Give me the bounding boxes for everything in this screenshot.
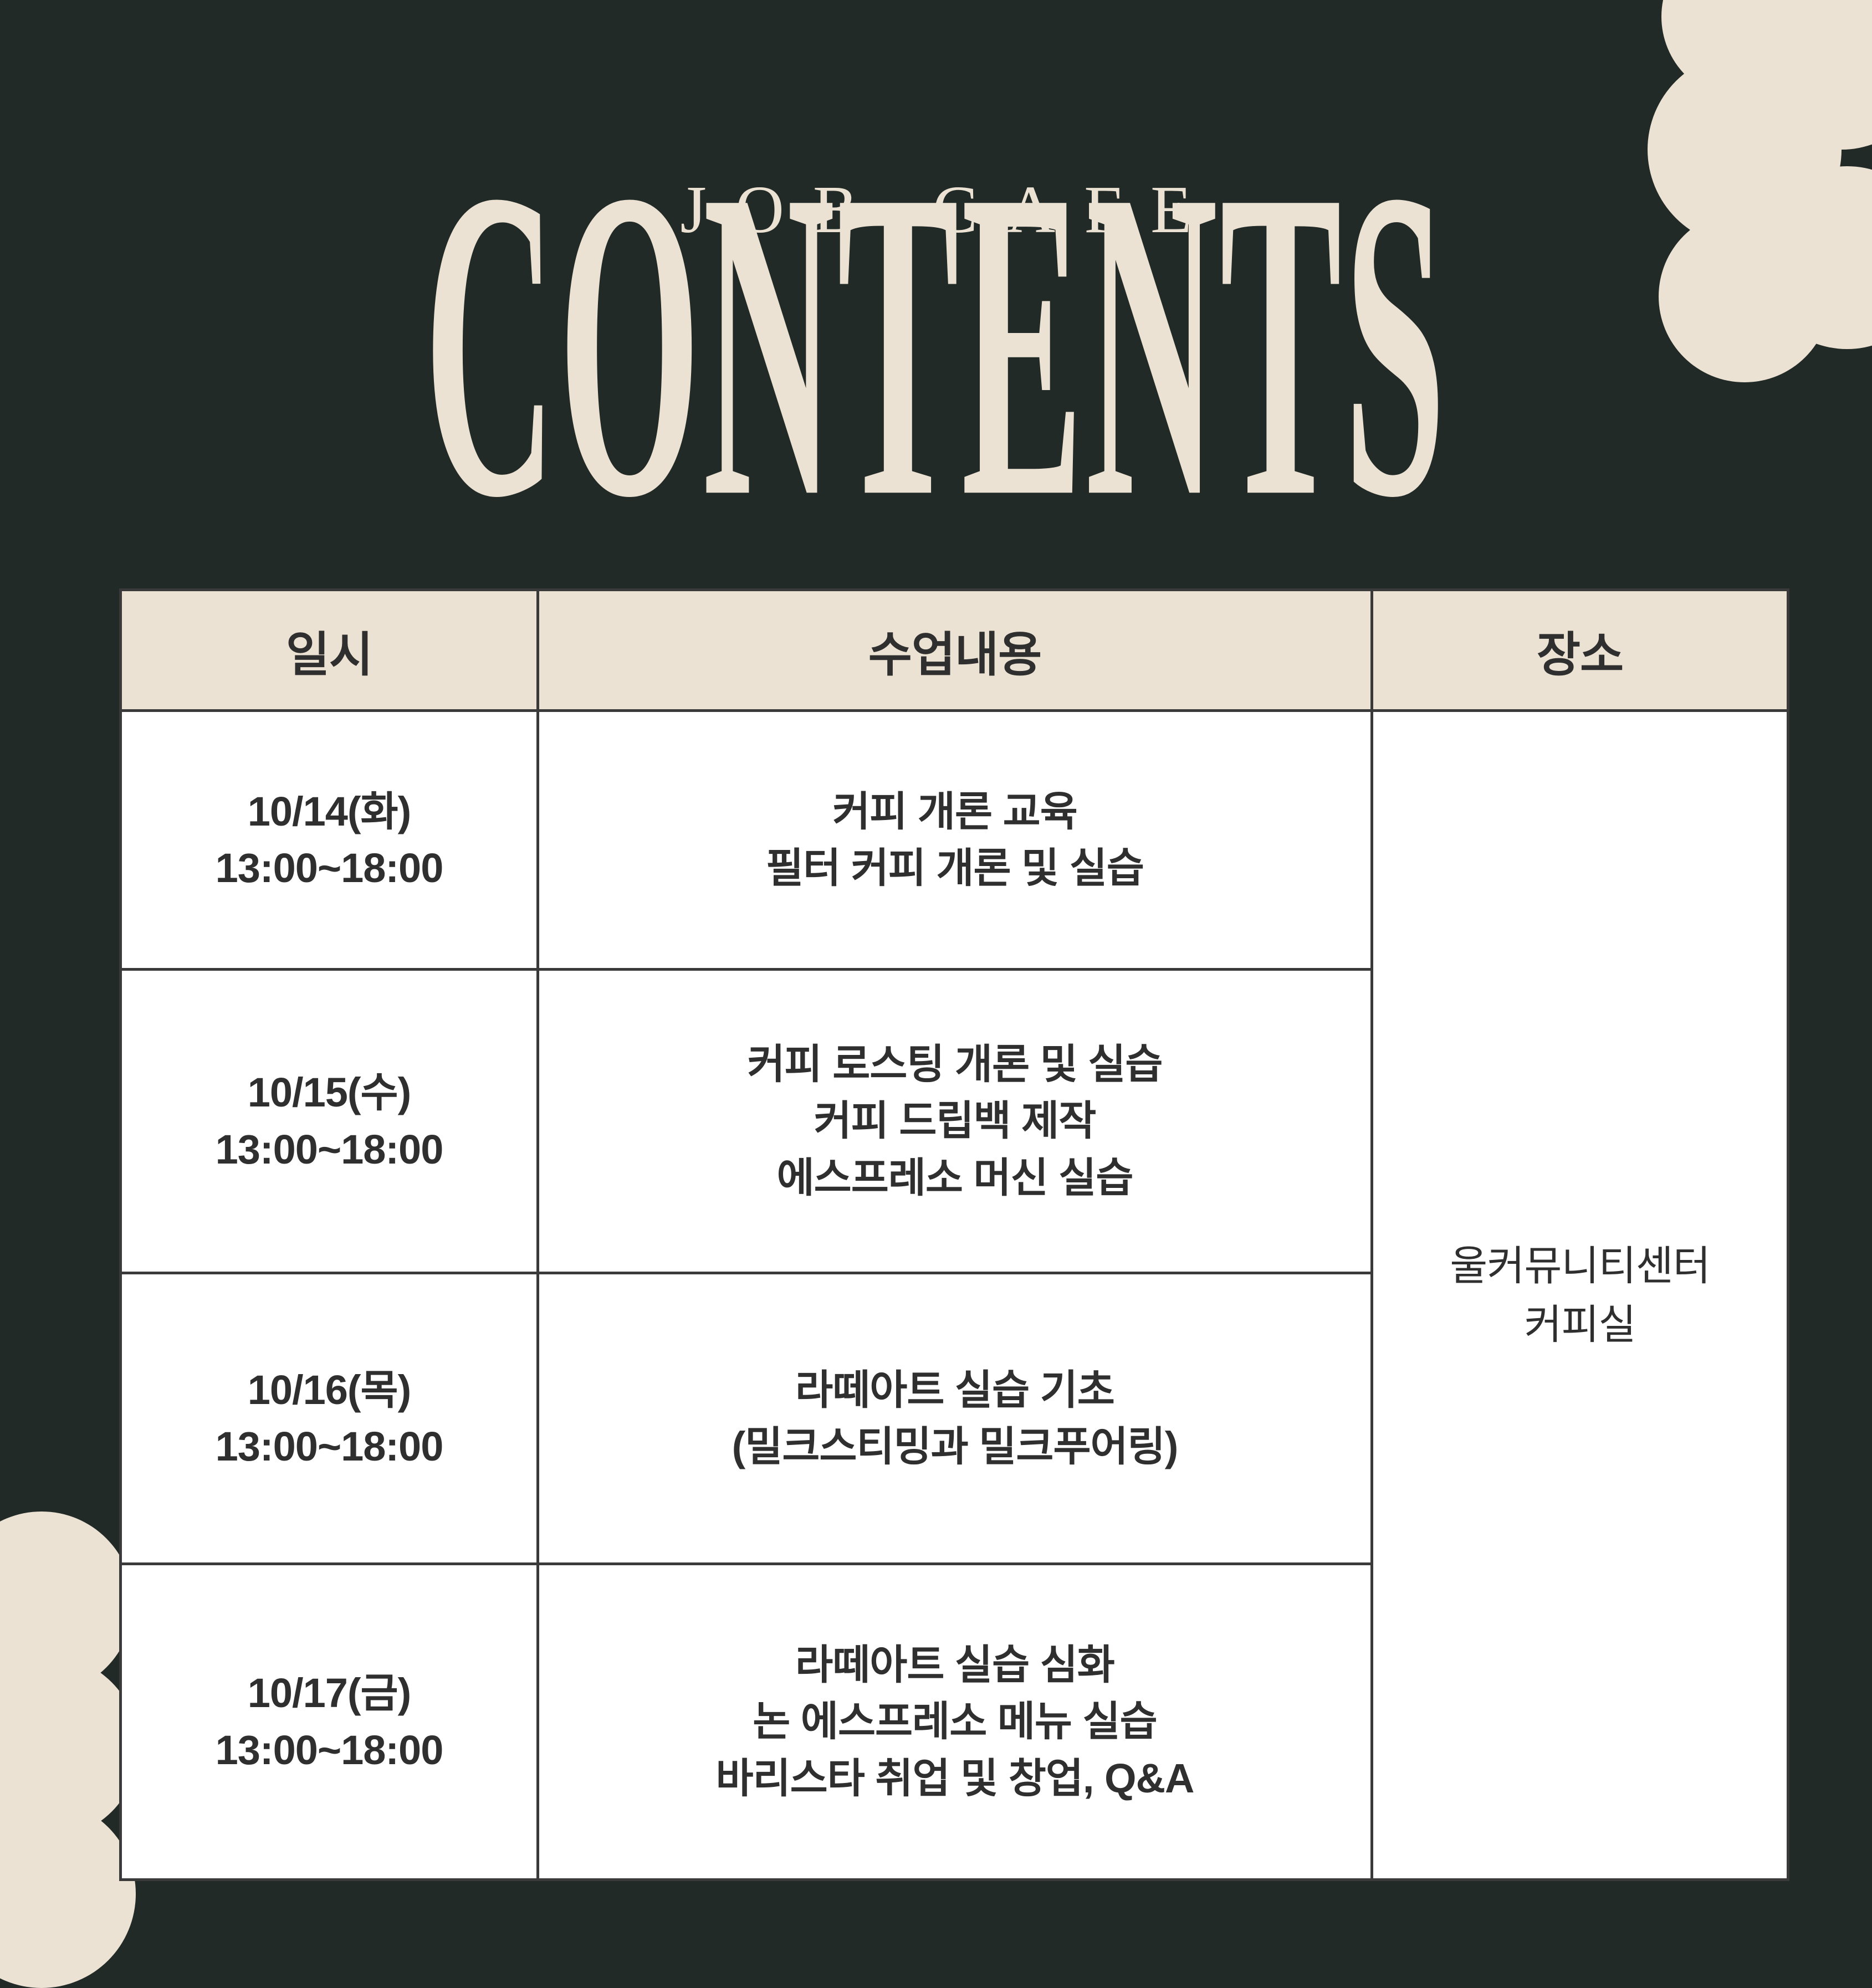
column-header-body: 수업내용 [538, 590, 1372, 711]
cell-lesson: 커피 개론 교육 필터 커피 개론 및 실습 [538, 711, 1372, 970]
page-title: CONTENTS [424, 124, 1448, 567]
lesson-line: 커피 로스팅 개론 및 실습 [539, 1036, 1370, 1093]
date-day: 10/17(금) [122, 1665, 536, 1721]
cell-lesson: 라떼아트 실습 심화 논 에스프레소 메뉴 실습 바리스타 취업 및 창업, Q… [538, 1564, 1372, 1880]
date-day: 10/16(목) [122, 1362, 536, 1418]
cell-lesson: 라떼아트 실습 기초 (밀크스티밍과 밀크푸어링) [538, 1273, 1372, 1564]
cell-date: 10/16(목) 13:00~18:00 [121, 1273, 538, 1564]
lesson-line: 필터 커피 개론 및 실습 [539, 840, 1370, 896]
date-time: 13:00~18:00 [122, 840, 536, 896]
place-line: 커피실 [1373, 1295, 1787, 1354]
place-line: 울커뮤니티센터 [1373, 1237, 1787, 1295]
lesson-line: 라떼아트 실습 기초 [539, 1362, 1370, 1418]
lesson-line: (밀크스티밍과 밀크푸어링) [539, 1418, 1370, 1475]
lesson-line: 에스프레소 머신 실습 [539, 1150, 1370, 1206]
date-day: 10/14(화) [122, 783, 536, 840]
date-time: 13:00~18:00 [122, 1418, 536, 1475]
date-day: 10/15(수) [122, 1064, 536, 1121]
lesson-line: 라떼아트 실습 심화 [539, 1637, 1370, 1693]
lesson-line: 커피 드립백 제작 [539, 1093, 1370, 1149]
cell-date: 10/17(금) 13:00~18:00 [121, 1564, 538, 1880]
cell-place: 울커뮤니티센터 커피실 [1372, 711, 1788, 1880]
cell-lesson: 커피 로스팅 개론 및 실습 커피 드립백 제작 에스프레소 머신 실습 [538, 970, 1372, 1273]
schedule-table: 일시 수업내용 장소 10/14(화) 13:00~18:00 커피 개론 교육… [119, 588, 1789, 1881]
table-header: 일시 수업내용 장소 [121, 590, 1788, 711]
lesson-line: 바리스타 취업 및 창업, Q&A [539, 1750, 1370, 1807]
column-header-place: 장소 [1372, 590, 1788, 711]
table-body: 10/14(화) 13:00~18:00 커피 개론 교육 필터 커피 개론 및… [121, 711, 1788, 1880]
page-title-wrap: CONTENTS [0, 254, 1872, 431]
table-header-row: 일시 수업내용 장소 [121, 590, 1788, 711]
table-row: 10/14(화) 13:00~18:00 커피 개론 교육 필터 커피 개론 및… [121, 711, 1788, 970]
page-header: JOB CAFE CONTENTS [0, 0, 1872, 431]
cell-date: 10/14(화) 13:00~18:00 [121, 711, 538, 970]
lesson-line: 커피 개론 교육 [539, 783, 1370, 840]
cell-date: 10/15(수) 13:00~18:00 [121, 970, 538, 1273]
date-time: 13:00~18:00 [122, 1722, 536, 1779]
column-header-date: 일시 [121, 590, 538, 711]
date-time: 13:00~18:00 [122, 1121, 536, 1178]
lesson-line: 논 에스프레소 메뉴 실습 [539, 1693, 1370, 1750]
